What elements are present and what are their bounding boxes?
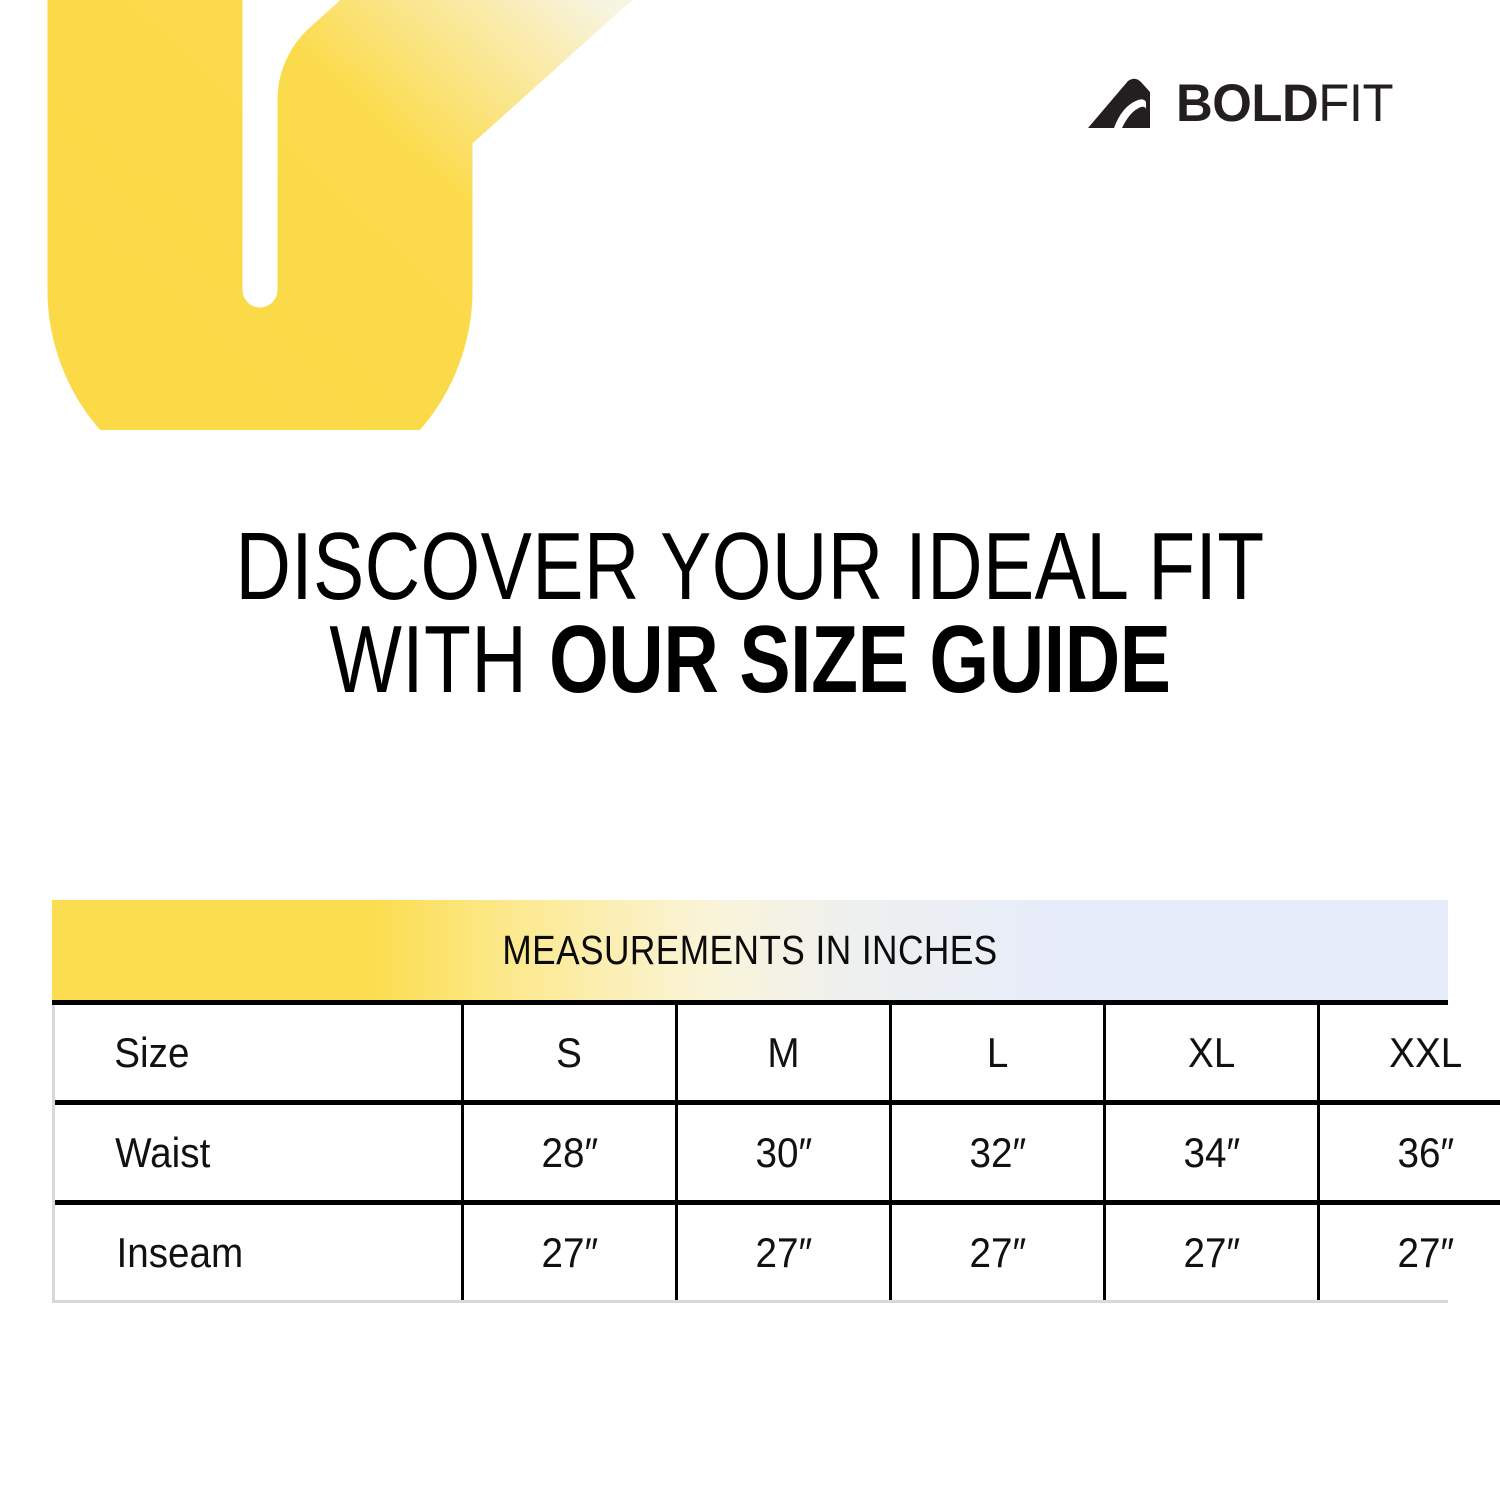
cell-text: Inseam (117, 1229, 244, 1277)
cell-text: L (987, 1029, 1008, 1077)
headline-line-2-light: WITH (329, 606, 549, 713)
table-header-title: MEASUREMENTS IN INCHES (502, 927, 997, 974)
brand-wordmark: BOLDFIT (1176, 77, 1393, 130)
cell-size-xxl: XXL (1319, 1005, 1500, 1103)
cell-text: 27″ (1397, 1229, 1454, 1277)
cell-text: 34″ (1183, 1129, 1240, 1177)
headline-line-2-heavy: OUR SIZE GUIDE (549, 606, 1171, 713)
cell-size-xl: XL (1105, 1005, 1319, 1103)
table-row: Waist 28″ 30″ 32″ 34″ 36″ (55, 1103, 1500, 1203)
cell-text: 28″ (541, 1129, 598, 1177)
cell-text: Size (114, 1029, 189, 1077)
cell-inseam-xl: 27″ (1105, 1203, 1319, 1301)
size-guide-table: MEASUREMENTS IN INCHES Size S M L XL XXL… (52, 900, 1448, 1303)
cell-size-l: L (891, 1005, 1105, 1103)
cell-text: M (767, 1029, 799, 1077)
boldfit-mountain-icon (1088, 78, 1162, 128)
cell-text: 30″ (755, 1129, 812, 1177)
cell-text: Waist (115, 1129, 210, 1177)
cell-text: 32″ (969, 1129, 1026, 1177)
table-body: Size S M L XL XXL Waist 28″ 30″ 32″ 34″ … (55, 1005, 1500, 1300)
cell-inseam-l: 27″ (891, 1203, 1105, 1301)
table-row: Inseam 27″ 27″ 27″ 27″ 27″ (55, 1203, 1500, 1301)
cell-size-m: M (677, 1005, 891, 1103)
brand-logo: BOLDFIT (1088, 72, 1402, 134)
decorative-checkmark-swoosh (0, 0, 900, 430)
brand-name-bold: BOLD (1176, 74, 1318, 133)
cell-inseam-s: 27″ (463, 1203, 677, 1301)
cell-text: S (557, 1029, 583, 1077)
row-label-size: Size (55, 1005, 463, 1103)
table-body-wrapper: Size S M L XL XXL Waist 28″ 30″ 32″ 34″ … (52, 1005, 1448, 1303)
table-header-bar: MEASUREMENTS IN INCHES (52, 900, 1448, 1005)
page-title: DISCOVER YOUR IDEAL FIT WITH OUR SIZE GU… (0, 520, 1500, 706)
cell-text: XXL (1389, 1029, 1462, 1077)
cell-waist-xxl: 36″ (1319, 1103, 1500, 1203)
headline-line-2: WITH OUR SIZE GUIDE (150, 613, 1350, 706)
cell-size-s: S (463, 1005, 677, 1103)
cell-text: 27″ (541, 1229, 598, 1277)
headline-line-1: DISCOVER YOUR IDEAL FIT (150, 520, 1350, 613)
cell-text: 36″ (1397, 1129, 1454, 1177)
cell-text: 27″ (1183, 1229, 1240, 1277)
measurements-table: Size S M L XL XXL Waist 28″ 30″ 32″ 34″ … (55, 1005, 1500, 1300)
row-label-waist: Waist (55, 1103, 463, 1203)
cell-waist-l: 32″ (891, 1103, 1105, 1203)
cell-inseam-xxl: 27″ (1319, 1203, 1500, 1301)
cell-text: XL (1188, 1029, 1235, 1077)
cell-inseam-m: 27″ (677, 1203, 891, 1301)
cell-text: 27″ (969, 1229, 1026, 1277)
cell-waist-s: 28″ (463, 1103, 677, 1203)
table-row: Size S M L XL XXL (55, 1005, 1500, 1103)
cell-text: 27″ (755, 1229, 812, 1277)
row-label-inseam: Inseam (55, 1203, 463, 1301)
brand-name-light: FIT (1318, 74, 1393, 133)
cell-waist-m: 30″ (677, 1103, 891, 1203)
cell-waist-xl: 34″ (1105, 1103, 1319, 1203)
